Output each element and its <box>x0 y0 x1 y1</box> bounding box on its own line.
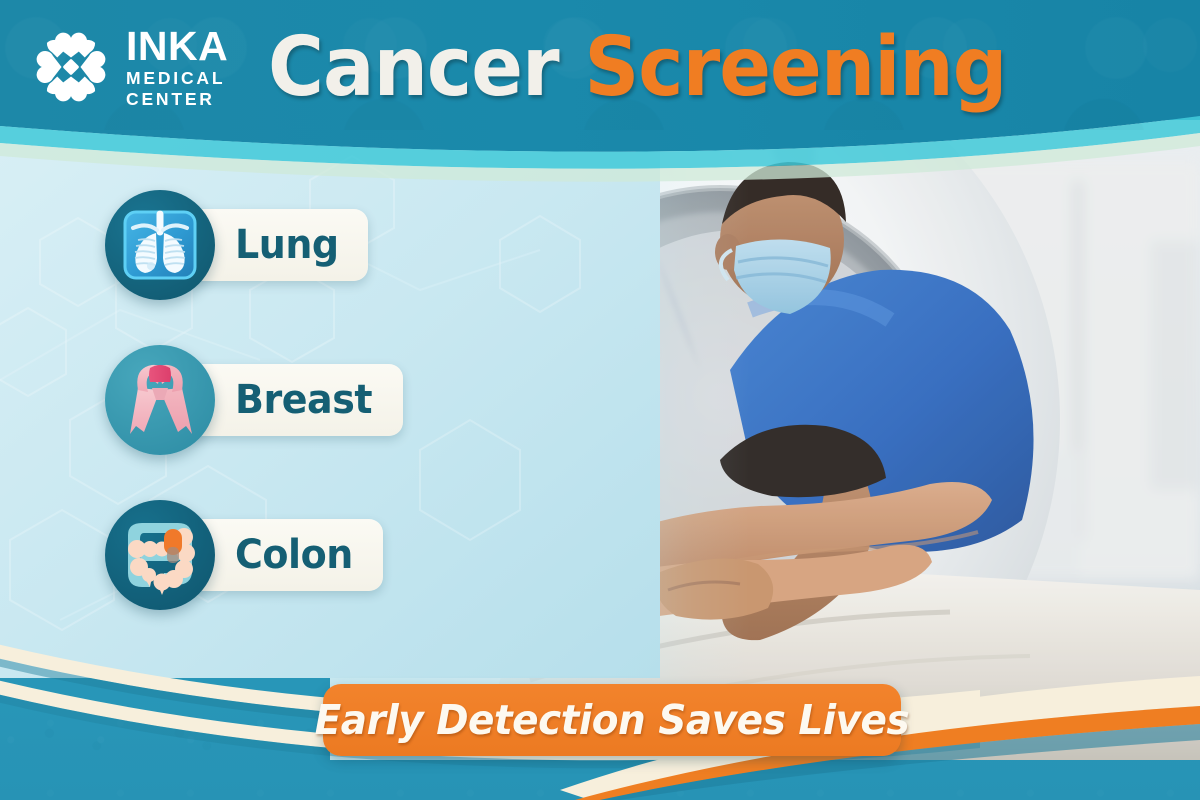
cancer-screening-poster: INKA MEDICAL CENTER Cancer Screening <box>0 0 1200 800</box>
title-word-screening: Screening <box>584 20 1006 115</box>
lung-xray-icon <box>105 190 215 300</box>
service-label-breast: Breast <box>235 377 372 423</box>
service-row-colon[interactable]: Colon <box>105 500 403 610</box>
pink-ribbon-icon <box>105 345 215 455</box>
service-label-lung: Lung <box>235 222 339 268</box>
brand-logo[interactable]: INKA MEDICAL CENTER <box>28 24 228 110</box>
brand-name-line2: MEDICAL <box>126 70 228 88</box>
page-title: Cancer Screening <box>268 20 1006 115</box>
tagline-banner: Early Detection Saves Lives <box>323 684 901 756</box>
colon-polyp-icon <box>105 500 215 610</box>
brand-name-line3: CENTER <box>126 91 228 109</box>
title-word-cancer: Cancer <box>268 20 559 115</box>
service-row-breast[interactable]: Breast <box>105 345 403 455</box>
service-row-lung[interactable]: Lung <box>105 190 403 300</box>
brand-name: INKA MEDICAL CENTER <box>126 26 228 108</box>
brand-name-line1: INKA <box>126 26 228 67</box>
screening-services-list: Lung <box>105 190 403 655</box>
tagline-text: Early Detection Saves Lives <box>315 696 910 744</box>
inka-rosette-logo-icon <box>28 24 114 110</box>
service-label-colon: Colon <box>235 532 353 578</box>
